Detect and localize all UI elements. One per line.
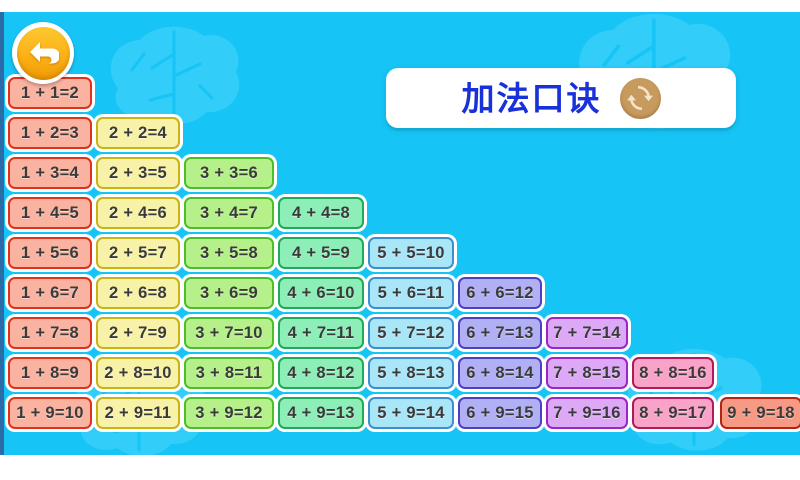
formula-tile[interactable]: 6 + 9=15: [458, 397, 542, 429]
formula-tile[interactable]: 4 + 5=9: [278, 237, 364, 269]
formula-tile[interactable]: 2 + 6=8: [96, 277, 180, 309]
formula-tile[interactable]: 1 + 7=8: [8, 317, 92, 349]
formula-tile[interactable]: 3 + 9=12: [184, 397, 274, 429]
formula-tile[interactable]: 3 + 3=6: [184, 157, 274, 189]
formula-tile[interactable]: 1 + 8=9: [8, 357, 92, 389]
formula-tile[interactable]: 7 + 7=14: [546, 317, 628, 349]
formula-tile[interactable]: 4 + 8=12: [278, 357, 364, 389]
formula-tile[interactable]: 5 + 8=13: [368, 357, 454, 389]
formula-tile[interactable]: 8 + 8=16: [632, 357, 714, 389]
formula-tile[interactable]: 5 + 7=12: [368, 317, 454, 349]
brain-decoration-icon: [100, 20, 250, 130]
formula-tile[interactable]: 1 + 9=10: [8, 397, 92, 429]
back-button[interactable]: [12, 22, 74, 84]
formula-tile[interactable]: 7 + 9=16: [546, 397, 628, 429]
left-edge-border: [0, 12, 4, 455]
formula-tile[interactable]: 3 + 5=8: [184, 237, 274, 269]
back-arrow-icon: [27, 39, 59, 67]
bottom-white-strip: [0, 455, 800, 480]
app-root: 加法口诀 1 + 1=21 + 2=32 + 2=41 + 3=42 + 3=5…: [0, 0, 800, 480]
formula-tile[interactable]: 5 + 9=14: [368, 397, 454, 429]
refresh-button[interactable]: [620, 78, 661, 119]
formula-tile[interactable]: 4 + 9=13: [278, 397, 364, 429]
formula-tile[interactable]: 3 + 7=10: [184, 317, 274, 349]
formula-tile[interactable]: 3 + 8=11: [184, 357, 274, 389]
top-white-strip: [0, 0, 800, 12]
formula-tile[interactable]: 6 + 8=14: [458, 357, 542, 389]
formula-tile[interactable]: 5 + 5=10: [368, 237, 454, 269]
formula-tile[interactable]: 2 + 4=6: [96, 197, 180, 229]
title-panel: 加法口诀: [386, 68, 736, 128]
formula-tile[interactable]: 4 + 7=11: [278, 317, 364, 349]
formula-tile[interactable]: 1 + 4=5: [8, 197, 92, 229]
formula-tile[interactable]: 2 + 7=9: [96, 317, 180, 349]
formula-tile[interactable]: 7 + 8=15: [546, 357, 628, 389]
formula-tile[interactable]: 1 + 2=3: [8, 117, 92, 149]
back-button-disc: [17, 27, 70, 80]
formula-tile[interactable]: 9 + 9=18: [720, 397, 800, 429]
refresh-icon: [625, 83, 655, 113]
formula-tile[interactable]: 6 + 7=13: [458, 317, 542, 349]
game-stage: 加法口诀 1 + 1=21 + 2=32 + 2=41 + 3=42 + 3=5…: [0, 12, 800, 455]
formula-tile[interactable]: 5 + 6=11: [368, 277, 454, 309]
formula-tile[interactable]: 2 + 5=7: [96, 237, 180, 269]
formula-tile[interactable]: 1 + 5=6: [8, 237, 92, 269]
formula-tile[interactable]: 2 + 3=5: [96, 157, 180, 189]
formula-tile[interactable]: 3 + 6=9: [184, 277, 274, 309]
formula-tile[interactable]: 2 + 9=11: [96, 397, 180, 429]
formula-tile[interactable]: 1 + 3=4: [8, 157, 92, 189]
formula-tile[interactable]: 6 + 6=12: [458, 277, 542, 309]
formula-tile[interactable]: 1 + 6=7: [8, 277, 92, 309]
formula-tile[interactable]: 2 + 2=4: [96, 117, 180, 149]
formula-tile[interactable]: 2 + 8=10: [96, 357, 180, 389]
formula-tile[interactable]: 4 + 6=10: [278, 277, 364, 309]
formula-tile[interactable]: 3 + 4=7: [184, 197, 274, 229]
page-title: 加法口诀: [462, 82, 602, 115]
formula-tile[interactable]: 4 + 4=8: [278, 197, 364, 229]
formula-tile[interactable]: 8 + 9=17: [632, 397, 714, 429]
